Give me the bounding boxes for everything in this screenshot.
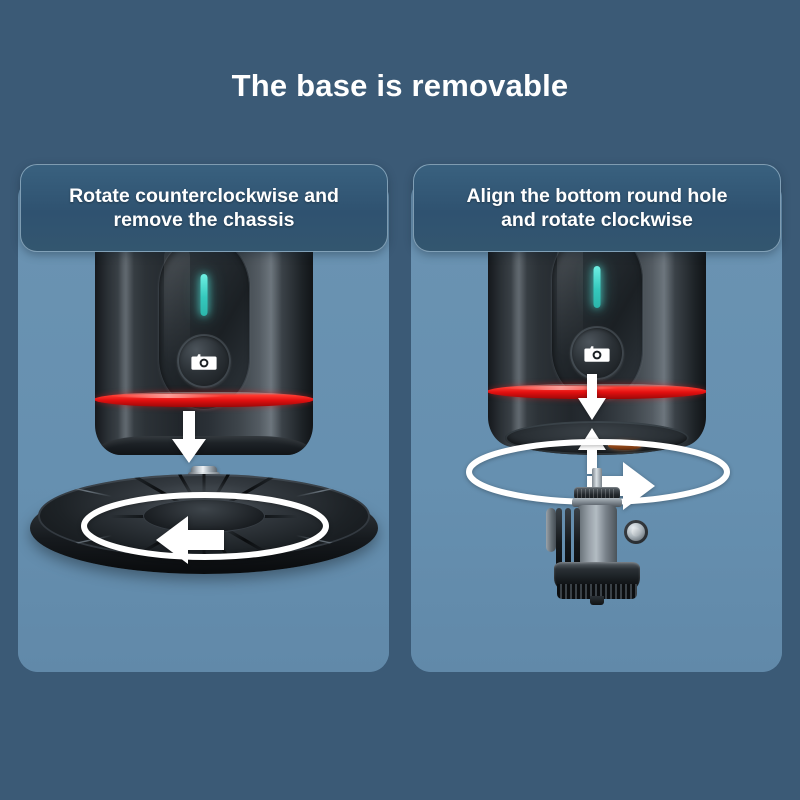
caption-left-line1: Rotate counterclockwise and — [69, 185, 339, 207]
adapter-body — [577, 505, 617, 567]
camera-icon — [191, 351, 217, 371]
caption-right-line1: Align the bottom round hole — [466, 185, 727, 207]
adapter-fork-prongs — [556, 508, 582, 568]
thumb-screw-icon[interactable] — [624, 520, 648, 544]
caption-right-line2: and rotate clockwise — [501, 209, 693, 231]
panel-left — [18, 178, 389, 672]
adapter-side-clip — [546, 508, 556, 552]
caption-left-line2: remove the chassis — [113, 209, 294, 231]
camera-shutter-button[interactable] — [570, 326, 624, 380]
down-arrow-icon — [576, 374, 608, 420]
camera-icon — [584, 343, 610, 363]
caption-left: Rotate counterclockwise and remove the c… — [20, 164, 388, 252]
camera-shutter-button[interactable] — [177, 334, 231, 388]
panel-right — [411, 178, 782, 672]
status-led-icon — [593, 266, 600, 308]
caption-right-text: Align the bottom round hole and rotate c… — [466, 184, 727, 232]
control-recess — [158, 240, 250, 410]
body-highlight-left — [118, 240, 133, 455]
caption-left-text: Rotate counterclockwise and remove the c… — [69, 184, 339, 232]
panel-left-stage — [18, 178, 389, 672]
red-ring-band — [95, 392, 313, 407]
body-highlight-left — [511, 232, 526, 447]
body-highlight-right — [653, 232, 675, 447]
status-led-icon — [200, 274, 207, 316]
rotation-ring-ccw-icon — [74, 490, 336, 576]
panel-right-stage — [411, 178, 782, 672]
caption-right: Align the bottom round hole and rotate c… — [413, 164, 781, 252]
tripod-adapter — [542, 468, 652, 603]
down-arrow-icon — [169, 411, 209, 463]
body-highlight-right — [260, 240, 282, 455]
adapter-pin — [590, 596, 604, 605]
page-title: The base is removable — [0, 68, 800, 104]
